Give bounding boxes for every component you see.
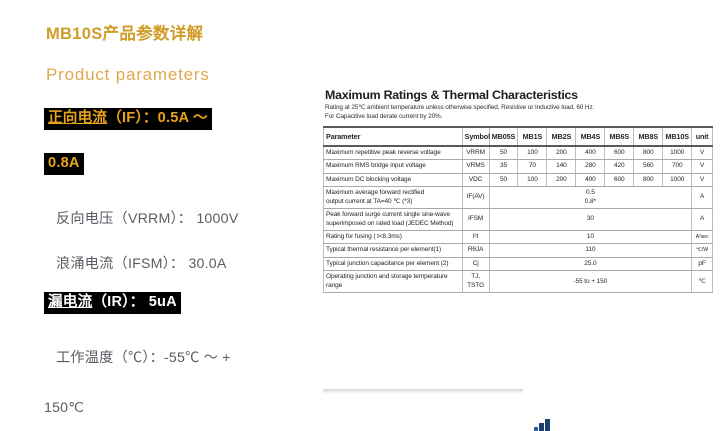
- table-row: Operating junction and storage temperatu…: [324, 271, 713, 293]
- cell-value: 700: [663, 160, 692, 173]
- spec-forward-current-value: （IF）：0.5A ～: [107, 110, 208, 126]
- col-header-mb1s: MB1S: [518, 127, 547, 146]
- cell-symbol-line-1: TJ,: [465, 273, 487, 281]
- cell-parameter: Maximum average forward rectified output…: [324, 187, 463, 209]
- col-header-unit: unit: [692, 127, 713, 146]
- page-subtitle: Product parameters: [46, 65, 210, 85]
- col-header-mb10s: MB10S: [663, 127, 692, 146]
- cell-unit: A: [692, 209, 713, 231]
- datasheet-title: Maximum Ratings & Thermal Characteristic…: [325, 88, 715, 102]
- cell-unit: V: [692, 173, 713, 186]
- col-header-mb8s: MB8S: [634, 127, 663, 146]
- table-row: Typical junction capacitance per element…: [324, 257, 713, 270]
- cell-parameter: Operating junction and storage temperatu…: [324, 271, 463, 293]
- table-row: Peak forward surge current single sine-w…: [324, 209, 713, 231]
- cell-value: 600: [605, 146, 634, 160]
- cell-parameter-line-1: Maximum average forward rectified: [326, 189, 460, 197]
- table-row: Maximum average forward rectified output…: [324, 187, 713, 209]
- cell-merged-value: 10: [489, 230, 692, 243]
- cell-value: 1000: [663, 146, 692, 160]
- cell-value: 560: [634, 160, 663, 173]
- col-header-symbol: Symbol: [462, 127, 489, 146]
- spec-forward-current-label: 正向电流: [48, 110, 107, 126]
- cell-symbol: IF(AV): [462, 187, 489, 209]
- spec-operating-temperature-cont: 150℃: [44, 400, 84, 416]
- cell-parameter: Rating for fusing ( t<8.3ms): [324, 230, 463, 243]
- table-row: Maximum RMS bridge input voltage VRMS 35…: [324, 160, 713, 173]
- cell-symbol: Cj: [462, 257, 489, 270]
- table-header-row: Parameter Symbol MB05S MB1S MB2S MB4S MB…: [324, 127, 713, 146]
- cell-symbol: IFSM: [462, 209, 489, 231]
- datasheet-image: Maximum Ratings & Thermal Characteristic…: [323, 88, 715, 396]
- cell-value: 100: [518, 173, 547, 186]
- cell-parameter: Typical thermal resistance per element(1…: [324, 244, 463, 257]
- cell-unit: ℃/W: [692, 244, 713, 257]
- cell-unit: pF: [692, 257, 713, 270]
- cell-parameter-line-2: range: [326, 282, 460, 290]
- cell-parameter-line-1: Peak forward surge current single sine-w…: [326, 211, 460, 219]
- cell-value: 400: [576, 146, 605, 160]
- watermark-bar-2: [539, 423, 544, 431]
- cell-symbol: VRRM: [462, 146, 489, 160]
- bar-chart-watermark-icon: [534, 419, 556, 431]
- cell-parameter: Maximum repetitive peak reverse voltage: [324, 146, 463, 160]
- cell-value: 50: [489, 146, 518, 160]
- watermark-bar-3: [545, 419, 550, 431]
- table-row: Typical thermal resistance per element(1…: [324, 244, 713, 257]
- datasheet-note-line-1: Rating at 25℃ ambient temperature unless…: [325, 104, 715, 113]
- datasheet-note-line-2: For Capacitive load derate current by 20…: [325, 113, 715, 122]
- cell-merged-value: 110: [489, 244, 692, 257]
- cell-parameter: Maximum DC blocking voltage: [324, 173, 463, 186]
- cell-value: 140: [547, 160, 576, 173]
- cell-unit: A²sec: [692, 230, 713, 243]
- ratings-table: Parameter Symbol MB05S MB1S MB2S MB4S MB…: [323, 126, 713, 294]
- cell-symbol: RθJA: [462, 244, 489, 257]
- cell-value: 1000: [663, 173, 692, 186]
- spec-operating-temperature: 工作温度（℃）：-55℃ ～ +: [56, 347, 231, 367]
- col-header-parameter: Parameter: [324, 127, 463, 146]
- cell-symbol: TJ, TSTG: [462, 271, 489, 293]
- spec-surge-current: 浪涌电流（IFSM）： 30.0A: [56, 253, 227, 273]
- cell-value: 800: [634, 173, 663, 186]
- cell-symbol: I²t: [462, 230, 489, 243]
- cell-value: 100: [518, 146, 547, 160]
- cell-merged-line-1: 0.5: [492, 189, 690, 197]
- cell-parameter-line-2: output current at TA=40 ℃ (*3): [326, 198, 460, 206]
- product-spec-panel: MB10S产品参数详解 Product parameters 正向电流（IF）：…: [0, 0, 320, 431]
- cell-merged-line-2: 0.8*: [492, 198, 690, 206]
- spec-leakage-current-label: 漏电流: [48, 294, 92, 310]
- cell-merged-value: 25.0: [489, 257, 692, 270]
- spec-leakage-current-value: （IR）： 5uA: [92, 294, 177, 310]
- page-title: MB10S产品参数详解: [46, 20, 203, 44]
- col-header-mb4s: MB4S: [576, 127, 605, 146]
- cell-parameter: Typical junction capacitance per element…: [324, 257, 463, 270]
- cell-unit: ℃: [692, 271, 713, 293]
- cell-merged-value: 0.5 0.8*: [489, 187, 692, 209]
- cell-value: 600: [605, 173, 634, 186]
- cell-unit: V: [692, 160, 713, 173]
- watermark-bar-1: [534, 427, 538, 431]
- cell-unit: A: [692, 187, 713, 209]
- cell-parameter: Peak forward surge current single sine-w…: [324, 209, 463, 231]
- cell-value: 800: [634, 146, 663, 160]
- cell-value: 200: [547, 146, 576, 160]
- cell-value: 200: [547, 173, 576, 186]
- cell-value: 50: [489, 173, 518, 186]
- cell-parameter-line-1: Operating junction and storage temperatu…: [326, 273, 460, 281]
- col-header-mb6s: MB6S: [605, 127, 634, 146]
- ratings-table-body: Parameter Symbol MB05S MB1S MB2S MB4S MB…: [324, 127, 713, 293]
- cell-parameter: Maximum RMS bridge input voltage: [324, 160, 463, 173]
- spec-forward-current-highlight: 正向电流（IF）：0.5A ～: [44, 108, 212, 130]
- spec-forward-current-highlight-2: 0.8A: [44, 153, 84, 175]
- table-row: Maximum DC blocking voltage VDC 50 100 2…: [324, 173, 713, 186]
- cell-value: 35: [489, 160, 518, 173]
- table-row: Maximum repetitive peak reverse voltage …: [324, 146, 713, 160]
- cell-value: 400: [576, 173, 605, 186]
- cell-value: 420: [605, 160, 634, 173]
- cell-symbol-line-2: TSTG: [465, 282, 487, 290]
- col-header-mb05s: MB05S: [489, 127, 518, 146]
- cell-parameter-line-2: superimposed on rated load (JEDEC Method…: [326, 220, 460, 228]
- scan-edge-fade: [323, 389, 523, 394]
- cell-symbol: VDC: [462, 173, 489, 186]
- cell-unit: V: [692, 146, 713, 160]
- cell-symbol: VRMS: [462, 160, 489, 173]
- spec-reverse-voltage: 反向电压（VRRM）： 1000V: [56, 208, 238, 228]
- cell-merged-value: 30: [489, 209, 692, 231]
- cell-merged-value: -55 to + 150: [489, 271, 692, 293]
- cell-value: 70: [518, 160, 547, 173]
- col-header-mb2s: MB2S: [547, 127, 576, 146]
- spec-leakage-current-highlight: 漏电流（IR）： 5uA: [44, 292, 181, 314]
- table-row: Rating for fusing ( t<8.3ms) I²t 10 A²se…: [324, 230, 713, 243]
- cell-value: 280: [576, 160, 605, 173]
